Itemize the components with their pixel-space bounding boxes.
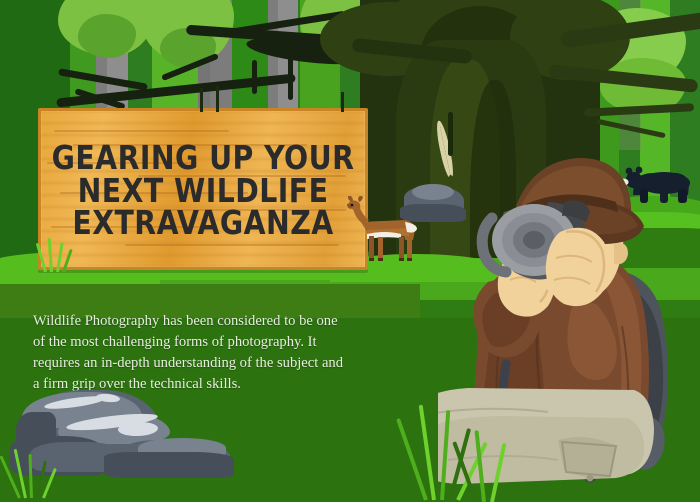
sign-nail: [341, 92, 344, 112]
grass-tuft: [16, 448, 60, 498]
sign-nail: [216, 86, 219, 112]
deer: [345, 196, 425, 268]
leaf-cluster: [78, 14, 136, 58]
rock-formation: [0, 390, 240, 502]
grass-tuft: [470, 430, 520, 502]
page-title: GEARING UP YOUR NEXT WILDLIFE EXTRAVAGAN…: [52, 142, 355, 240]
deer-body: [347, 196, 417, 261]
title-line-1: GEARING UP YOUR: [52, 142, 355, 175]
grass-tuft: [40, 238, 70, 272]
intro-paragraph: Wildlife Photography has been considered…: [33, 311, 353, 395]
title-line-3: EXTRAVAGANZA: [52, 207, 355, 240]
rock-shadow: [104, 452, 234, 478]
twig-silhouette: [288, 56, 293, 100]
wildlife-photography-poster: GEARING UP YOUR NEXT WILDLIFE EXTRAVAGAN…: [0, 0, 700, 502]
wooden-sign: GEARING UP YOUR NEXT WILDLIFE EXTRAVAGAN…: [38, 108, 368, 270]
twig-silhouette: [252, 60, 257, 94]
sign-nail: [200, 88, 203, 112]
